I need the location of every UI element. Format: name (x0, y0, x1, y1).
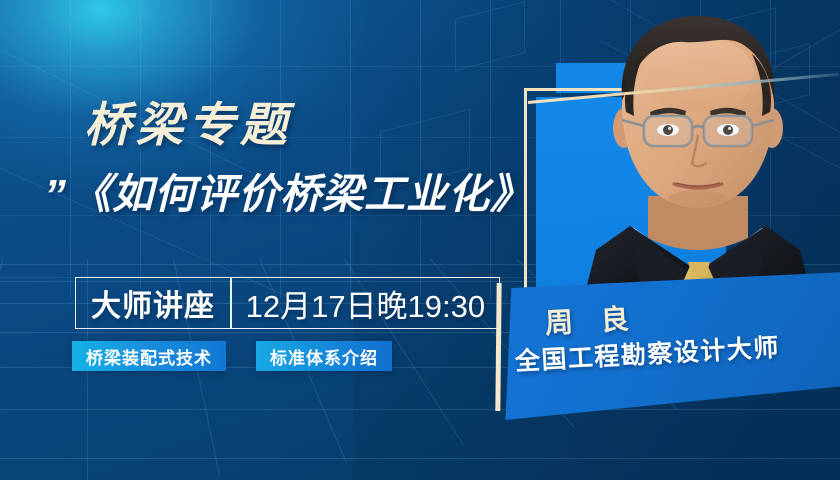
subtitle-text: 《如何评价桥梁工业化》 (70, 172, 532, 217)
topic-tag-2: 标准体系介绍 (256, 341, 392, 371)
speaker-portrait (556, 0, 840, 320)
lecture-info-box: 大师讲座 12月17日晚19:30 (75, 277, 500, 329)
grid-line-horizontal (0, 458, 840, 459)
grid-line-horizontal (0, 409, 840, 410)
topic-tag-1: 桥梁装配式技术 (72, 341, 226, 371)
grid-line-vertical (70, 0, 71, 298)
webinar-poster: 桥梁专题 ” 《如何评价桥梁工业化》 ” 大师讲座 12月17日晚19:30 桥… (0, 0, 840, 480)
subtitle-group: ” 《如何评价桥梁工业化》 ” (44, 172, 551, 217)
background-iso-box (455, 1, 525, 70)
quote-open-icon: ” (44, 178, 64, 213)
lecture-datetime: 12月17日晚19:30 (232, 278, 500, 328)
grid-line-vertical (350, 0, 351, 298)
page-title: 桥梁专题 (84, 101, 292, 148)
topic-tag-list: 桥梁装配式技术 标准体系介绍 (72, 341, 392, 371)
lecture-type-label: 大师讲座 (76, 278, 230, 328)
